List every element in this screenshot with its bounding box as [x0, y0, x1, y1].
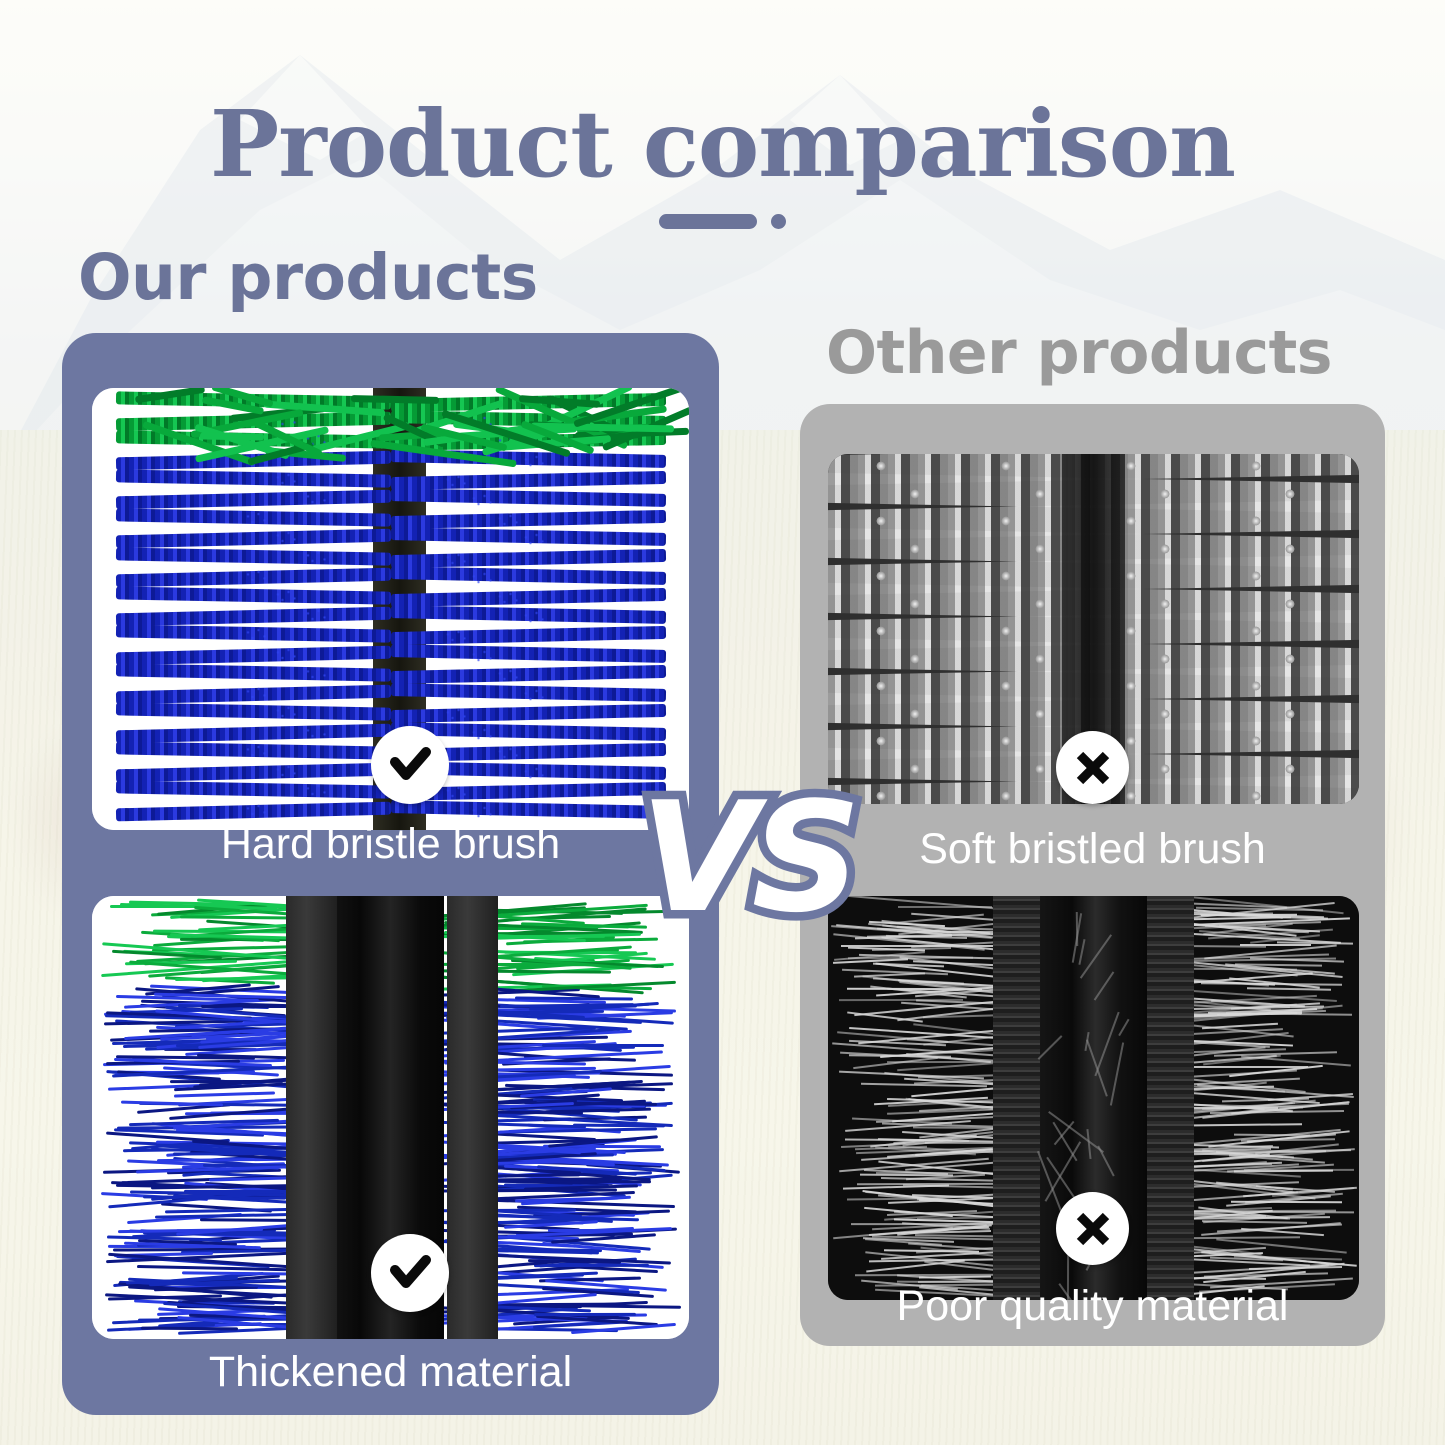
versus-label: VS	[640, 769, 855, 946]
page-title: Product comparison	[0, 96, 1445, 193]
caption-poor-quality-material: Poor quality material	[800, 1282, 1385, 1331]
brush-strip-left	[286, 896, 337, 1339]
other-products-heading: Other products	[826, 318, 1332, 388]
cracked-strip-left	[993, 896, 1041, 1300]
versus-badge: VS	[615, 752, 880, 962]
infographic-canvas: Product comparison Our products Other pr…	[0, 0, 1445, 1445]
brush-strip-right	[447, 896, 498, 1339]
divider-dot-icon	[771, 214, 786, 229]
caption-soft-bristled-brush: Soft bristled brush	[800, 825, 1385, 874]
divider-bar-icon	[659, 214, 757, 229]
check-circle-icon	[371, 1234, 449, 1312]
x-circle-icon	[1056, 1192, 1129, 1265]
our-products-heading: Our products	[78, 241, 538, 314]
x-circle-icon	[1056, 731, 1129, 804]
check-circle-icon	[371, 726, 449, 804]
cracked-strip-right	[1147, 896, 1195, 1300]
caption-thickened-material: Thickened material	[62, 1348, 719, 1397]
title-divider	[0, 208, 1445, 234]
